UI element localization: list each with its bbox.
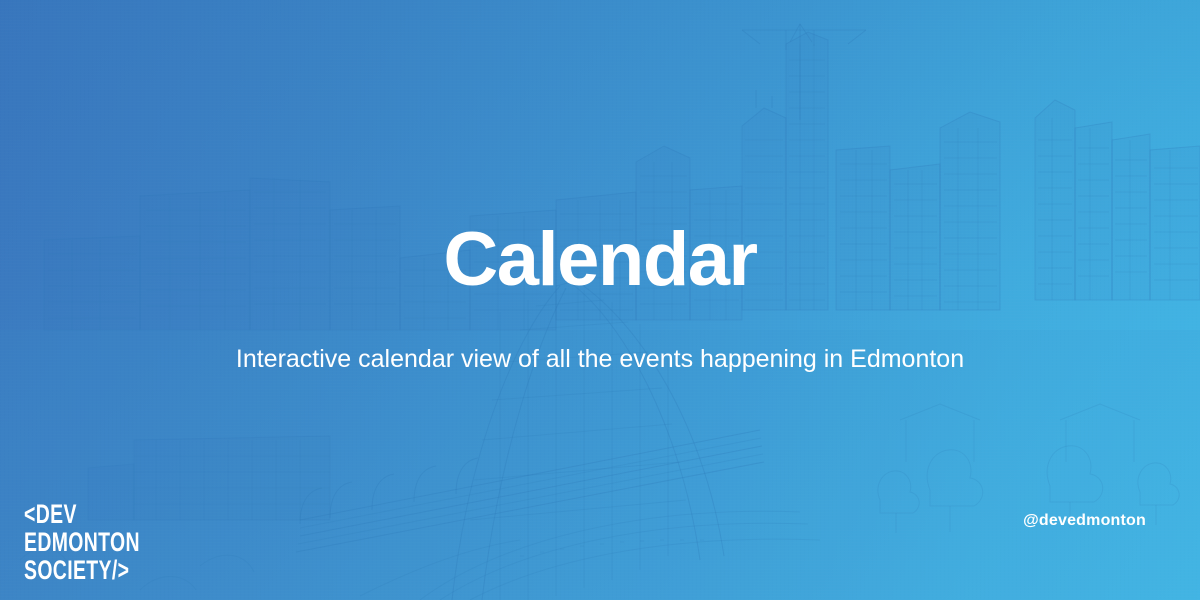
logo-line-2: EDMONTON [24,528,140,556]
logo-line-1: <DEV [24,500,140,528]
event-banner: Calendar Interactive calendar view of al… [0,0,1200,600]
banner-content: Calendar Interactive calendar view of al… [0,0,1200,600]
page-title: Calendar [0,222,1200,298]
logo-line-3: SOCIETY/> [24,556,140,584]
social-handle[interactable]: @devedmonton [1023,512,1146,530]
page-subtitle: Interactive calendar view of all the eve… [0,344,1200,374]
dev-edmonton-society-logo[interactable]: <DEV EDMONTON SOCIETY/> [24,500,140,584]
